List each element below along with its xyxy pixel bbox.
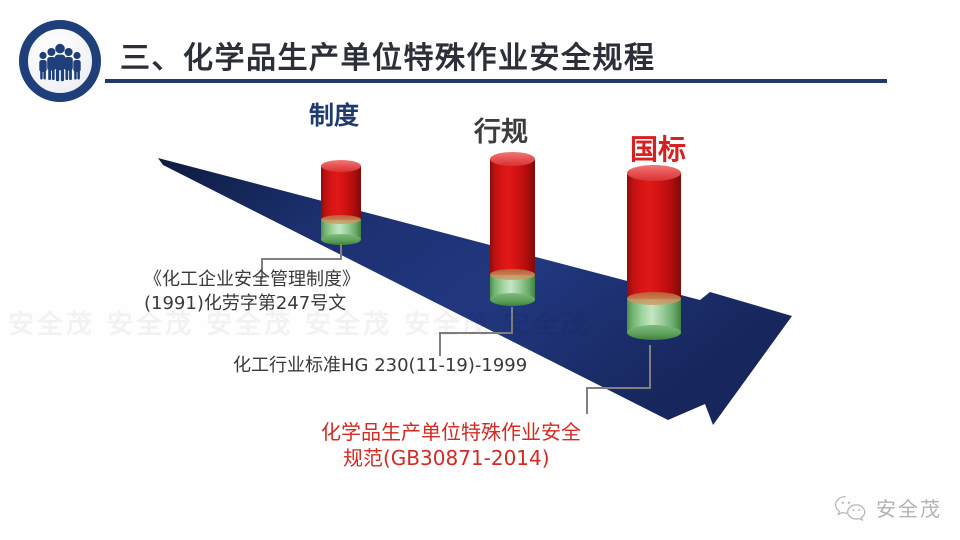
annotation-line-1: 《化工企业安全管理制度》 [144, 268, 360, 292]
slide-canvas: 三、化学品生产单位特殊作业安全规程 制度 行规 [0, 0, 960, 540]
annotation-zhidu: 《化工企业安全管理制度》 (1991)化劳字第247号文 [144, 268, 360, 316]
annotation-line-1: 化学品生产单位特殊作业安全 [321, 419, 581, 445]
leader-line-hanggui [440, 307, 512, 356]
annotation-guobiao: 化学品生产单位特殊作业安全 规范(GB30871-2014) [321, 419, 581, 472]
wechat-icon [833, 494, 867, 522]
corner-watermark: 安全茂 [833, 493, 942, 522]
leader-line-guobiao [587, 345, 650, 414]
annotation-line-2: 规范(GB30871-2014) [321, 445, 581, 471]
annotation-hanggui: 化工行业标准HG 230(11-19)-1999 [233, 354, 527, 378]
annotation-line-1: 化工行业标准HG 230(11-19)-1999 [233, 354, 527, 378]
annotation-line-2: (1991)化劳字第247号文 [144, 292, 360, 316]
watermark-name: 安全茂 [876, 493, 942, 522]
